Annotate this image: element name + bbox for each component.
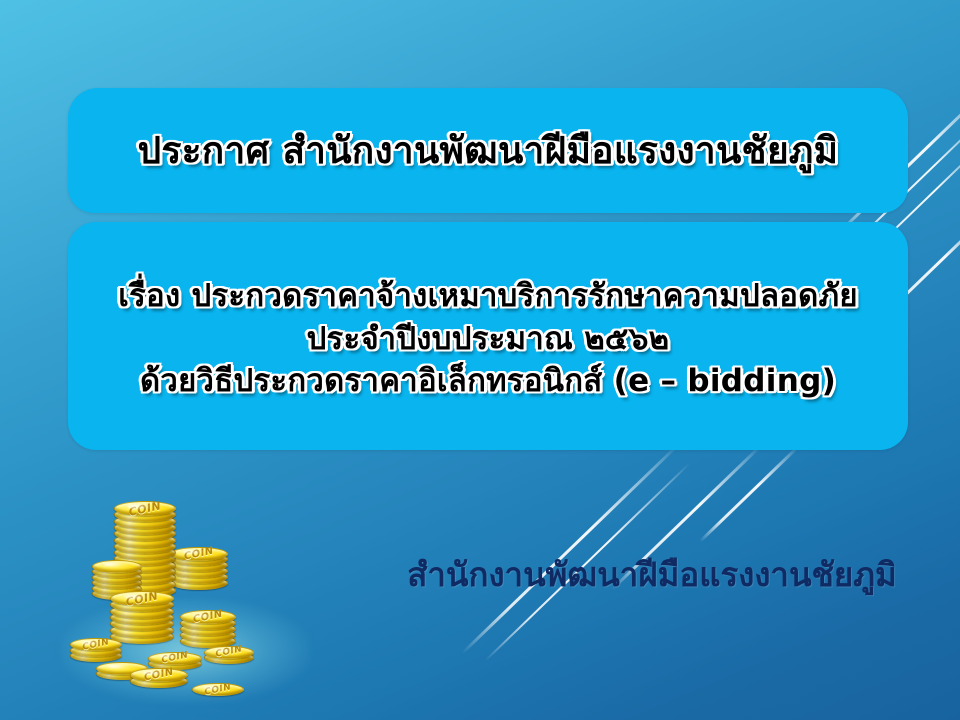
- page-title: ประกาศ สำนักงานพัฒนาฝีมือแรงงานชัยภูมิ: [138, 129, 839, 173]
- body-line-fiscal-year: ประจำปีงบประมาณ ๒๕๖๒: [307, 321, 670, 358]
- coin-stack: COIN: [70, 638, 122, 662]
- coin-top: COIN: [170, 547, 228, 561]
- coin-stack: COIN: [204, 646, 254, 664]
- coin-stack: COIN: [110, 591, 174, 644]
- streak-line: [699, 447, 798, 543]
- body-panel: เรื่อง ประกวดราคาจ้างเหมาบริการรักษาความ…: [68, 222, 908, 450]
- organization-caption: สำนักงานพัฒนาฝีมือแรงงานชัยภูมิ: [392, 548, 912, 601]
- coin-stack: COIN: [130, 668, 188, 688]
- coin-top: COIN: [204, 646, 254, 659]
- coin-top: COIN: [192, 683, 244, 696]
- coin-stack: COIN: [192, 683, 244, 696]
- coin-top: COIN: [148, 652, 202, 665]
- coin-stack: COIN: [170, 547, 228, 590]
- coin-top: [92, 560, 142, 573]
- announcement-slide: ประกาศ สำนักงานพัฒนาฝีมือแรงงานชัยภูมิ เ…: [0, 0, 960, 720]
- coin-top: COIN: [70, 638, 122, 651]
- title-panel: ประกาศ สำนักงานพัฒนาฝีมือแรงงานชัยภูมิ: [68, 88, 908, 213]
- body-line-subject: เรื่อง ประกวดราคาจ้างเหมาบริการรักษาความ…: [118, 278, 858, 315]
- body-line-method: ด้วยวิธีประกวดราคาอิเล็กทรอนิกส์ (e – bi…: [140, 363, 836, 400]
- coin-stack: COIN: [180, 610, 236, 648]
- coin-top: COIN: [114, 501, 176, 516]
- gold-coins-icon: COINCOINCOINCOINCOINCOINCOINCOINCOIN: [52, 448, 320, 710]
